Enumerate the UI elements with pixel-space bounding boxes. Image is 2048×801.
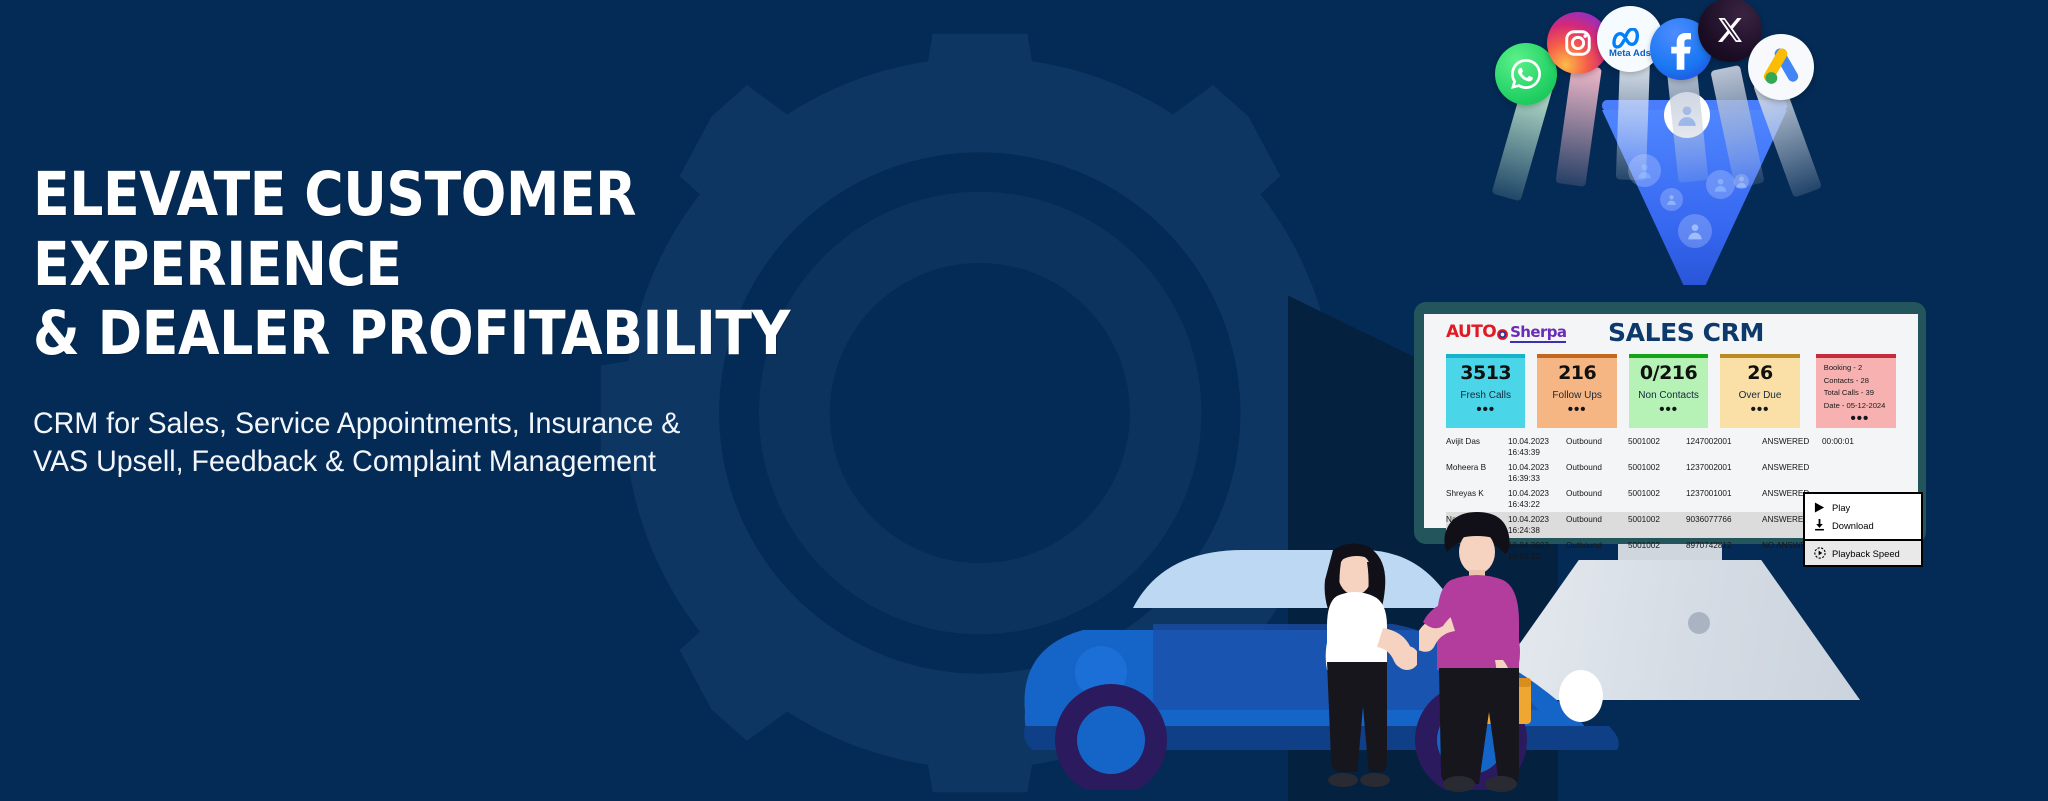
headline-line-1: ELEVATE CUSTOMER EXPERIENCE xyxy=(33,159,636,300)
subhead-line-2: VAS Upsell, Feedback & Complaint Managem… xyxy=(33,443,906,482)
page-title: ELEVATE CUSTOMER EXPERIENCE & DEALER PRO… xyxy=(33,160,825,369)
card-more-icon[interactable]: ••• xyxy=(1476,406,1495,414)
stat-card-summary[interactable]: Booking - 2 Contacts - 28 Total Calls - … xyxy=(1816,354,1896,428)
card-accent-bar xyxy=(1537,354,1616,358)
summary-booking: Booking - 2 xyxy=(1824,362,1862,375)
menu-item-download-label: Download xyxy=(1832,520,1874,531)
headline-line-2: & DEALER PROFITABILITY xyxy=(33,299,825,369)
stat-value: 26 xyxy=(1747,362,1772,384)
summary-total-calls: Total Calls - 39 xyxy=(1824,387,1874,400)
person-salesperson xyxy=(1419,508,1539,801)
card-accent-bar xyxy=(1816,354,1896,358)
stat-card-follow-ups[interactable]: 216 Follow Ups ••• xyxy=(1537,354,1616,428)
subhead-line-1: CRM for Sales, Service Appointments, Ins… xyxy=(33,405,906,444)
cell-status: ANSWERED xyxy=(1762,437,1822,446)
crm-title: SALES CRM xyxy=(1424,318,1918,347)
social-channel-cluster: Meta Ads xyxy=(1498,0,1878,194)
stat-label: Fresh Calls xyxy=(1460,390,1511,401)
funnel-avatar-6 xyxy=(1678,214,1712,248)
card-more-icon[interactable]: ••• xyxy=(1751,406,1770,414)
card-accent-bar xyxy=(1446,354,1525,358)
stat-label: Follow Ups xyxy=(1552,390,1601,401)
person-customer xyxy=(1309,536,1417,801)
crm-stat-cards: 3513 Fresh Calls ••• 216 Follow Ups ••• … xyxy=(1424,348,1918,428)
menu-item-play[interactable]: Play xyxy=(1805,499,1921,516)
context-menu-secondary: Playback Speed xyxy=(1803,541,1923,567)
download-icon xyxy=(1813,519,1826,531)
stat-value: 216 xyxy=(1558,362,1596,384)
playback-speed-icon xyxy=(1813,547,1826,559)
stat-card-non-contacts[interactable]: 0/216 Non Contacts ••• xyxy=(1629,354,1708,428)
card-more-icon[interactable]: ••• xyxy=(1659,406,1678,414)
menu-item-playback-speed[interactable]: Playback Speed xyxy=(1805,544,1921,562)
context-menu-primary: Play Download xyxy=(1803,492,1923,541)
hero-subheading: CRM for Sales, Service Appointments, Ins… xyxy=(33,405,906,482)
cell-duration: 00:00:01 xyxy=(1822,437,1872,446)
menu-item-download[interactable]: Download xyxy=(1805,516,1921,534)
stat-value: 0/216 xyxy=(1640,362,1697,384)
cell-status: ANSWERED xyxy=(1762,463,1822,472)
stick-meta xyxy=(1616,59,1650,180)
play-icon xyxy=(1813,502,1826,513)
card-more-icon[interactable]: ••• xyxy=(1824,415,1896,423)
card-accent-bar xyxy=(1629,354,1708,358)
stat-card-fresh-calls[interactable]: 3513 Fresh Calls ••• xyxy=(1446,354,1525,428)
stat-value: 3513 xyxy=(1460,362,1511,384)
stat-label: Non Contacts xyxy=(1638,390,1699,401)
menu-item-playback-speed-label: Playback Speed xyxy=(1832,548,1900,559)
dealership-illustration xyxy=(1295,440,1715,801)
stat-label: Over Due xyxy=(1739,390,1782,401)
menu-item-play-label: Play xyxy=(1832,502,1850,513)
audio-context-menu: Play Download Playback Speed xyxy=(1803,492,1923,567)
stick-instagram xyxy=(1555,64,1601,187)
summary-contacts: Contacts - 28 xyxy=(1824,375,1869,388)
card-accent-bar xyxy=(1720,354,1799,358)
crm-header: AUTO Sherpa SALES CRM xyxy=(1424,314,1918,348)
hero-copy: ELEVATE CUSTOMER EXPERIENCE & DEALER PRO… xyxy=(33,160,933,482)
card-more-icon[interactable]: ••• xyxy=(1568,406,1587,414)
google-ads-icon[interactable] xyxy=(1748,34,1814,100)
stat-card-over-due[interactable]: 26 Over Due ••• xyxy=(1720,354,1799,428)
meta-ads-label: Meta Ads xyxy=(1609,49,1651,59)
